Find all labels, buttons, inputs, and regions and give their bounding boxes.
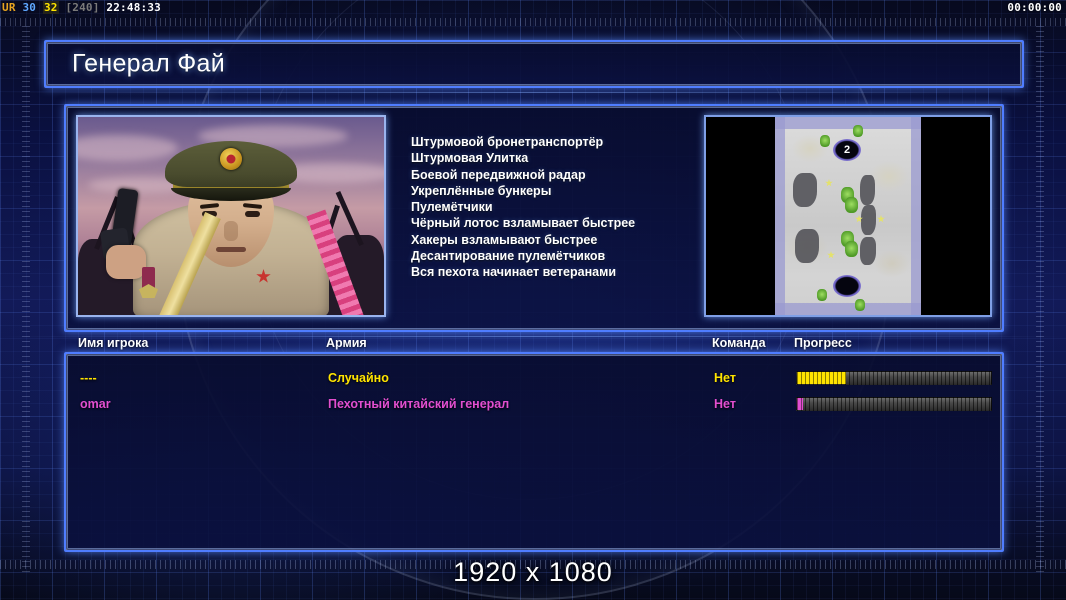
title-panel: Генерал Фай	[44, 40, 1024, 88]
map-start-position-2: 2	[833, 139, 861, 161]
ability-item: Чёрный лотос взламывает быстрее	[411, 215, 741, 231]
portrait-cap-emblem	[220, 148, 242, 170]
header-player-name: Имя игрока	[78, 336, 148, 350]
player-army[interactable]: Пехотный китайский генерал	[328, 394, 509, 414]
portrait-brow	[200, 203, 219, 209]
player-army[interactable]: Случайно	[328, 368, 389, 388]
status-value-1: 30	[22, 1, 36, 14]
map-terrain	[860, 237, 876, 265]
player-team[interactable]: Нет	[714, 368, 736, 388]
status-bracket-value: [240]	[65, 1, 99, 14]
status-label: UR	[2, 1, 16, 14]
background-line	[0, 92, 1066, 93]
status-value-2: 32	[43, 1, 59, 14]
status-clock: 22:48:33	[106, 1, 161, 14]
ability-item: Вся пехота начинает ветеранами	[411, 264, 741, 280]
map-edge	[911, 117, 921, 315]
portrait-mouth	[216, 247, 246, 252]
header-team: Команда	[712, 336, 766, 350]
ability-item: Штурмовая Улитка	[411, 150, 741, 166]
player-progress-bar	[796, 397, 992, 411]
portrait-eye	[245, 211, 260, 217]
ruler-strip-top	[0, 18, 1066, 26]
game-lobby-screen: UR 30 32 [240] 22:48:33 00:00:00 Генерал…	[0, 0, 1066, 600]
map-objective	[825, 179, 833, 187]
map-preview[interactable]: 2	[704, 115, 992, 317]
map-objective	[827, 251, 835, 259]
map-resource	[855, 299, 865, 311]
map-terrain	[793, 173, 817, 207]
header-progress: Прогресс	[794, 336, 852, 350]
player-progress-fill	[797, 372, 846, 384]
status-bar-left: UR 30 32 [240] 22:48:33	[2, 0, 161, 16]
player-list-panel: ---- Случайно Нет omar Пехотный китайски…	[64, 352, 1004, 552]
page-title: Генерал Фай	[72, 50, 225, 79]
player-progress-fill	[797, 398, 803, 410]
portrait-brow	[243, 203, 262, 209]
header-army: Армия	[326, 336, 367, 350]
map-resource	[845, 241, 858, 257]
table-row[interactable]: omar Пехотный китайский генерал Нет	[66, 394, 1002, 418]
map-objective	[877, 215, 885, 223]
general-info-panel: Штурмовой бронетранспортёр Штурмовая Ули…	[64, 104, 1004, 332]
general-portrait	[76, 115, 386, 317]
status-timer: 00:00:00	[1007, 0, 1062, 16]
map-resource	[845, 197, 858, 213]
player-name[interactable]: omar	[80, 394, 111, 414]
table-row[interactable]: ---- Случайно Нет	[66, 368, 1002, 392]
map-terrain	[860, 175, 875, 205]
player-name[interactable]: ----	[80, 368, 97, 388]
ability-item: Хакеры взламывают быстрее	[411, 232, 741, 248]
map-edge	[775, 303, 921, 315]
map-start-position-1	[833, 275, 861, 297]
map-resource	[853, 125, 863, 137]
map-resource	[817, 289, 827, 301]
map-edge	[775, 117, 785, 315]
ability-item: Боевой передвижной радар	[411, 167, 741, 183]
player-team[interactable]: Нет	[714, 394, 736, 414]
map-edge	[775, 117, 921, 129]
portrait-medal	[142, 267, 155, 291]
map-resource	[820, 135, 830, 147]
ruler-strip-left	[22, 26, 30, 572]
player-progress-bar	[796, 371, 992, 385]
ability-item: Пулемётчики	[411, 199, 741, 215]
ability-item: Укреплённые бункеры	[411, 183, 741, 199]
map-image: 2	[775, 117, 921, 315]
resolution-overlay: 1920 x 1080	[0, 557, 1066, 588]
general-abilities-list: Штурмовой бронетранспортёр Штурмовая Ули…	[411, 134, 741, 281]
portrait-nose	[224, 221, 238, 241]
portrait-hand	[106, 245, 146, 279]
ability-item: Штурмовой бронетранспортёр	[411, 134, 741, 150]
status-bar: UR 30 32 [240] 22:48:33 00:00:00	[0, 0, 1066, 16]
ruler-strip-right	[1036, 26, 1044, 572]
map-terrain	[861, 205, 876, 235]
map-terrain	[795, 229, 819, 263]
ability-item: Десантирование пулемётчиков	[411, 248, 741, 264]
